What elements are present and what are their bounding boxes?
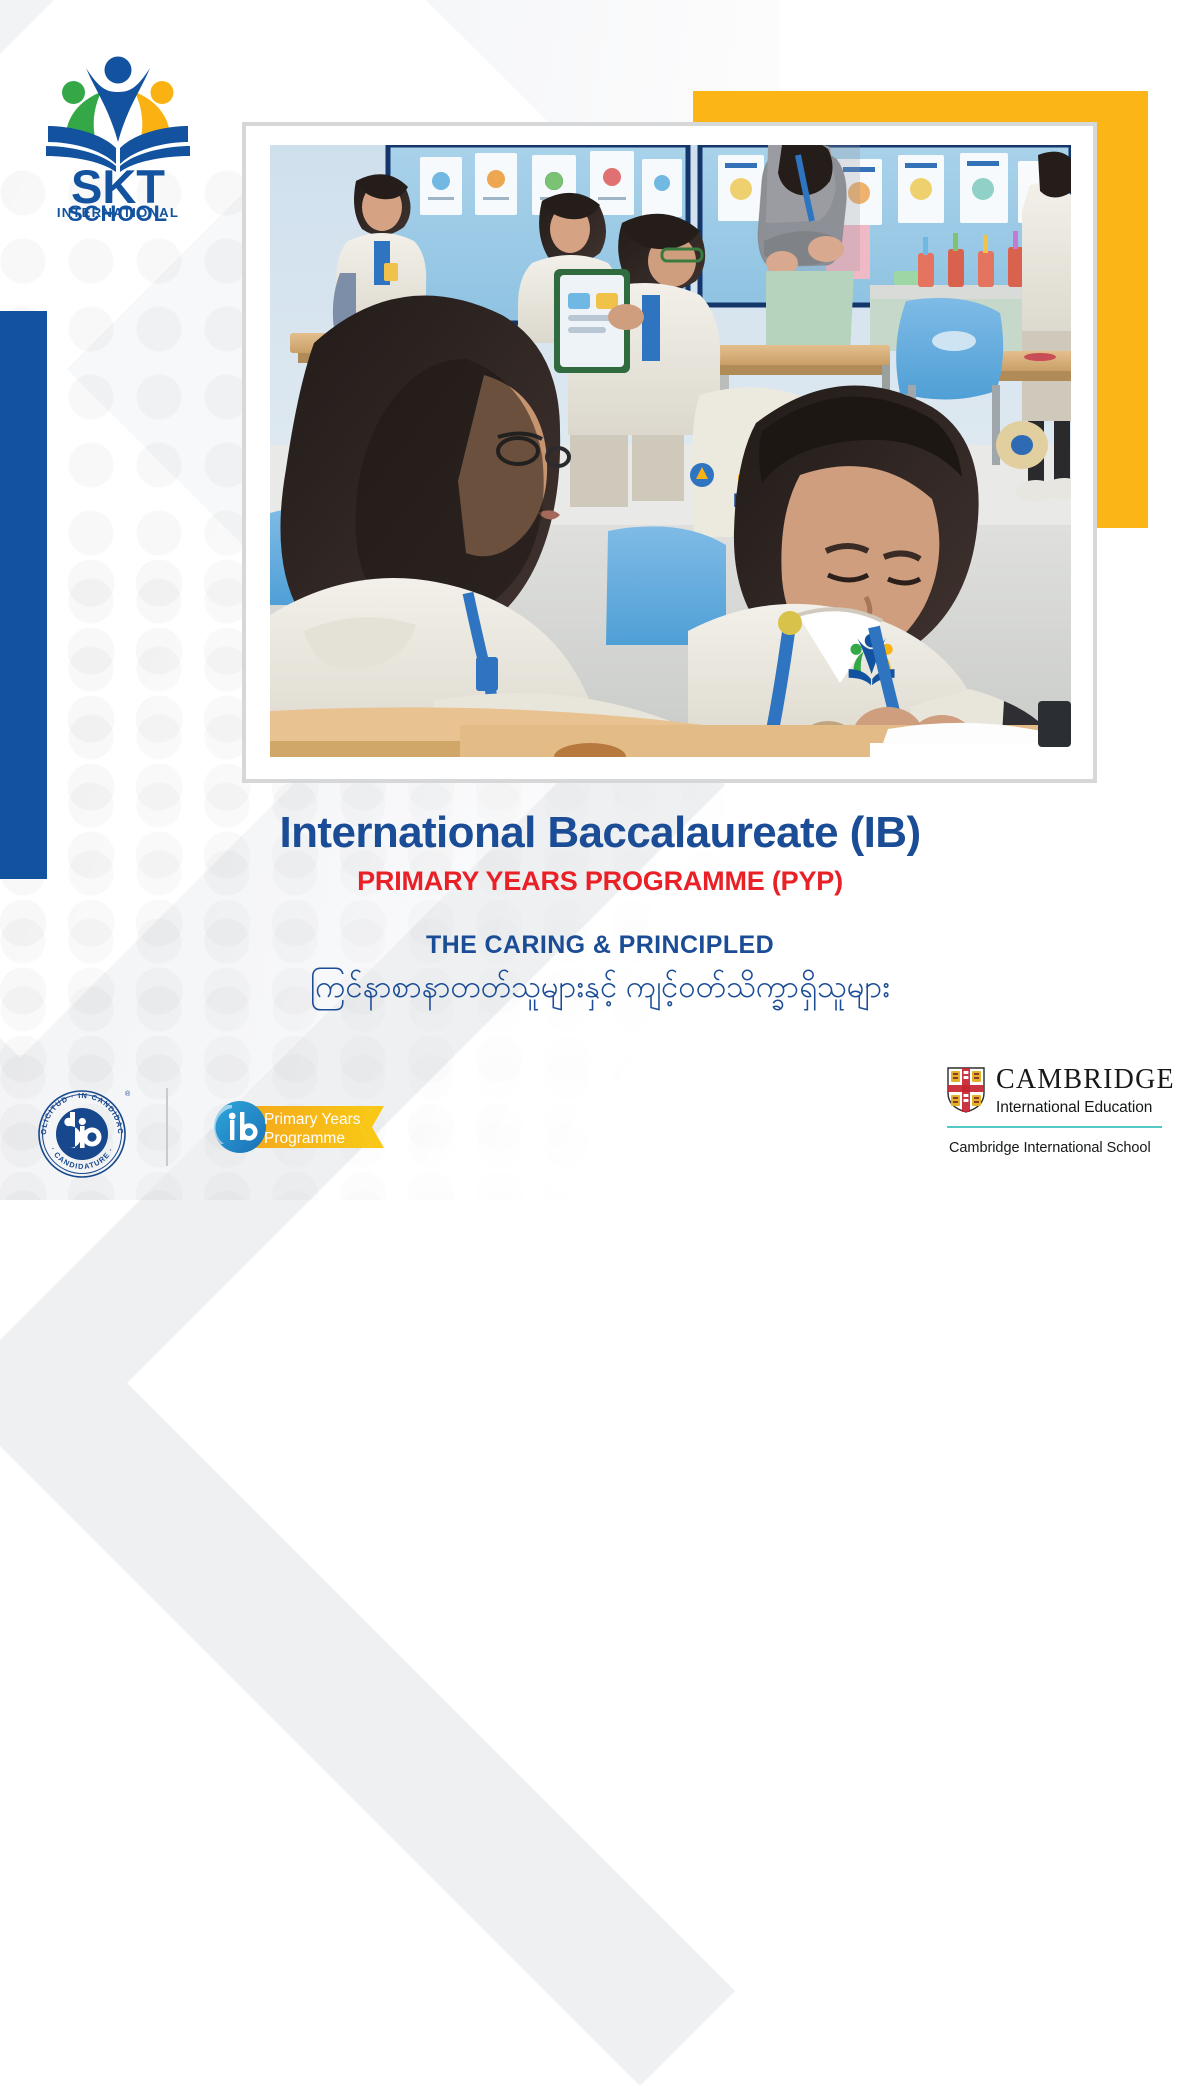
photo-frame: ST IN G BRIDGE (242, 122, 1097, 783)
pyp-line-1: Primary Years (264, 1111, 361, 1128)
cambridge-school-line: Cambridge International School (947, 1140, 1162, 1156)
classroom-students-photo: ST IN G BRIDGE (270, 145, 1071, 757)
left-blue-accent-bar (0, 311, 47, 879)
skt-logo: SKT INTERNATIONAL SCHOOL (38, 30, 198, 220)
logo-yellow-head (151, 81, 174, 104)
cambridge-tagline: International Education (996, 1099, 1175, 1117)
trait-english: THE CARING & PRINCIPLED (0, 931, 1200, 960)
logo-green-head (62, 81, 85, 104)
programme-subtitle: PRIMARY YEARS PROGRAMME (PYP) (0, 866, 1200, 897)
cambridge-shield-icon (947, 1067, 985, 1113)
page-title: International Baccalaureate (IB) (0, 808, 1200, 857)
logo-wordmark-school: SCHOOL (38, 201, 198, 227)
cambridge-international-education-logo: CAMBRIDGE International Education Cambri… (947, 1066, 1162, 1166)
teacher (758, 145, 860, 355)
ib-candidate-seal: SOLICITUD · IN CANDIDACY · CANDIDATURE ·… (30, 1082, 134, 1186)
footer-divider (166, 1088, 168, 1166)
logo-blue-head (105, 57, 132, 84)
headline-block: International Baccalaureate (IB) PRIMARY… (0, 808, 1200, 1008)
ib-logo-row: SOLICITUD · IN CANDIDACY · CANDIDATURE ·… (26, 1082, 376, 1174)
trait-myanmar: ကြင်နာစာနာတတ်သူများနှင့် ကျင့်ဝတ်သိက္ခာရ… (0, 966, 1200, 1008)
registered-mark: ® (125, 1090, 131, 1098)
ib-primary-years-programme-logo: Primary Years Programme (194, 1096, 384, 1158)
cambridge-rule (947, 1126, 1162, 1128)
cambridge-wordmark: CAMBRIDGE (996, 1066, 1175, 1094)
pyp-line-2: Programme (264, 1130, 345, 1147)
